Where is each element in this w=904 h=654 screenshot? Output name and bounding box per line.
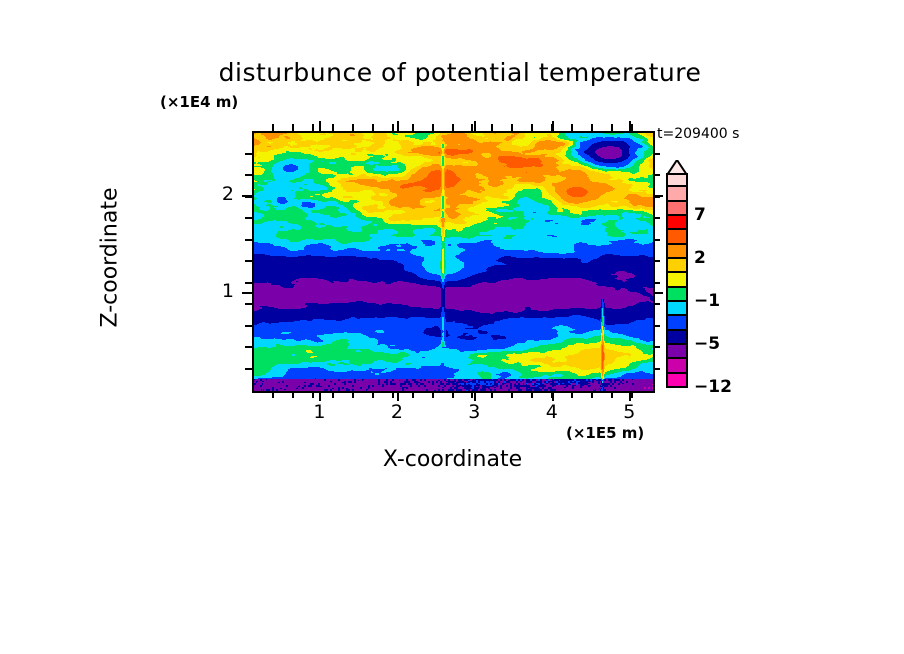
x-minor-tick xyxy=(432,391,434,398)
x-minor-tick xyxy=(511,391,513,398)
x-unit-label: (×1E5 m) xyxy=(566,424,644,442)
y-minor-tick xyxy=(245,174,252,176)
x-axis-title: X-coordinate xyxy=(270,447,635,472)
x-minor-tick xyxy=(352,124,354,131)
colorbar-band xyxy=(666,374,688,388)
x-minor-tick xyxy=(491,391,493,398)
y-major-tick xyxy=(653,195,663,197)
x-major-tick xyxy=(397,391,399,401)
y-minor-tick xyxy=(653,174,660,176)
y-minor-tick xyxy=(653,368,660,370)
y-tick-label: 1 xyxy=(204,280,234,302)
y-major-tick xyxy=(653,292,663,294)
colorbar-band xyxy=(666,273,688,287)
figure-canvas: disturbunce of potential temperature (×1… xyxy=(0,0,904,654)
colorbar-band xyxy=(666,173,688,187)
colorbar-tick-label: −5 xyxy=(694,334,720,354)
y-tick-label: 2 xyxy=(204,183,234,205)
x-minor-tick xyxy=(432,124,434,131)
x-minor-tick xyxy=(611,124,613,131)
x-minor-tick xyxy=(272,124,274,131)
colorbar xyxy=(666,173,688,388)
colorbar-tick-label: 2 xyxy=(694,248,706,268)
x-tick-label: 3 xyxy=(459,401,489,423)
x-minor-tick xyxy=(471,124,473,131)
y-minor-tick xyxy=(653,239,660,241)
y-minor-tick xyxy=(653,217,660,219)
colorbar-band xyxy=(666,202,688,216)
colorbar-band xyxy=(666,302,688,316)
colorbar-tick-label: −12 xyxy=(694,377,732,397)
x-major-tick xyxy=(552,121,554,131)
colorbar-band xyxy=(666,245,688,259)
x-major-tick xyxy=(319,391,321,401)
x-minor-tick xyxy=(412,391,414,398)
x-minor-tick xyxy=(571,391,573,398)
y-minor-tick xyxy=(245,153,252,155)
x-minor-tick xyxy=(332,391,334,398)
x-tick-label: 1 xyxy=(304,401,334,423)
time-stamp-annotation: t=209400 s xyxy=(657,126,739,142)
x-minor-tick xyxy=(272,391,274,398)
y-minor-tick xyxy=(245,368,252,370)
y-minor-tick xyxy=(245,239,252,241)
x-minor-tick xyxy=(392,391,394,398)
y-minor-tick xyxy=(245,303,252,305)
x-major-tick xyxy=(629,121,631,131)
y-minor-tick xyxy=(653,282,660,284)
colorbar-band xyxy=(666,331,688,345)
x-tick-label: 4 xyxy=(537,401,567,423)
y-minor-tick xyxy=(653,346,660,348)
x-minor-tick xyxy=(292,124,294,131)
x-minor-tick xyxy=(372,124,374,131)
x-minor-tick xyxy=(372,391,374,398)
x-minor-tick xyxy=(631,391,633,398)
x-major-tick xyxy=(397,121,399,131)
colorbar-tick-label: −1 xyxy=(694,291,720,311)
y-axis-title: Z-coordinate xyxy=(98,138,123,378)
page-title: disturbunce of potential temperature xyxy=(160,58,760,87)
x-major-tick xyxy=(474,121,476,131)
x-minor-tick xyxy=(471,391,473,398)
y-minor-tick xyxy=(245,325,252,327)
colorbar-band xyxy=(666,316,688,330)
x-minor-tick xyxy=(591,124,593,131)
x-minor-tick xyxy=(392,124,394,131)
x-minor-tick xyxy=(491,124,493,131)
colorbar-band xyxy=(666,359,688,373)
x-minor-tick xyxy=(631,124,633,131)
y-major-tick xyxy=(242,292,252,294)
y-minor-tick xyxy=(653,303,660,305)
x-minor-tick xyxy=(591,391,593,398)
y-minor-tick xyxy=(653,325,660,327)
x-minor-tick xyxy=(312,124,314,131)
contour-plot-area xyxy=(252,131,655,393)
y-minor-tick xyxy=(245,282,252,284)
colorbar-tick-label: 7 xyxy=(694,205,706,225)
x-tick-label: 2 xyxy=(382,401,412,423)
x-minor-tick xyxy=(511,124,513,131)
y-unit-label: (×1E4 m) xyxy=(160,93,238,111)
colorbar-band xyxy=(666,187,688,201)
y-minor-tick xyxy=(653,153,660,155)
x-major-tick xyxy=(474,391,476,401)
colorbar-band xyxy=(666,345,688,359)
y-minor-tick xyxy=(245,260,252,262)
x-major-tick xyxy=(629,391,631,401)
y-minor-tick xyxy=(245,217,252,219)
contour-field xyxy=(254,133,653,391)
colorbar-band xyxy=(666,230,688,244)
x-minor-tick xyxy=(312,391,314,398)
x-minor-tick xyxy=(332,124,334,131)
colorbar-band xyxy=(666,288,688,302)
x-minor-tick xyxy=(292,391,294,398)
y-minor-tick xyxy=(245,346,252,348)
colorbar-band xyxy=(666,216,688,230)
y-minor-tick xyxy=(653,260,660,262)
x-major-tick xyxy=(552,391,554,401)
x-minor-tick xyxy=(611,391,613,398)
y-major-tick xyxy=(242,195,252,197)
x-minor-tick xyxy=(452,124,454,131)
x-minor-tick xyxy=(571,124,573,131)
x-major-tick xyxy=(319,121,321,131)
colorbar-band xyxy=(666,259,688,273)
x-minor-tick xyxy=(531,124,533,131)
x-minor-tick xyxy=(352,391,354,398)
x-minor-tick xyxy=(531,391,533,398)
x-minor-tick xyxy=(412,124,414,131)
x-tick-label: 5 xyxy=(614,401,644,423)
x-minor-tick xyxy=(452,391,454,398)
